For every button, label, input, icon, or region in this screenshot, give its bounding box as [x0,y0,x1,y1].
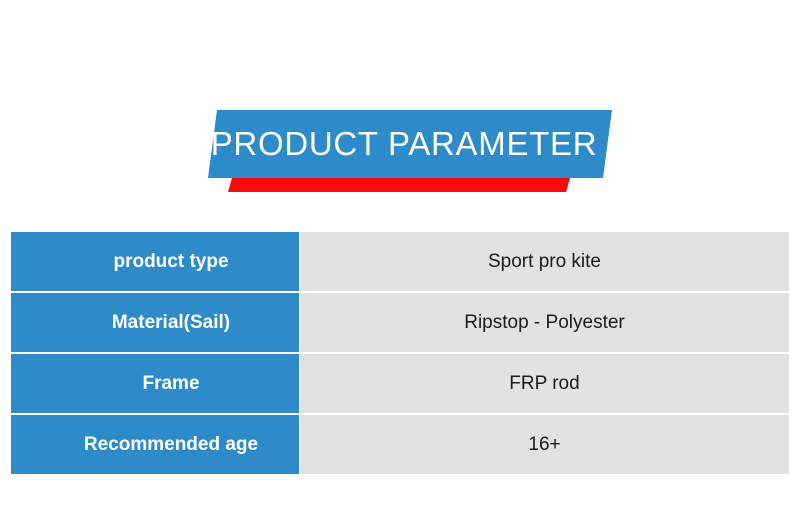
spec-value-product-type: Sport pro kite [300,232,789,291]
spec-label-recommended-age: Recommended age [11,415,299,474]
table-row: Material(Sail) Ripstop - Polyester [11,293,789,352]
table-row: product type Sport pro kite [11,232,789,291]
spec-value-frame: FRP rod [300,354,789,413]
spec-label-product-type: product type [11,232,299,291]
page-title: PRODUCT PARAMETER [0,110,800,178]
spec-value-material-sail: Ripstop - Polyester [300,293,789,352]
banner: PRODUCT PARAMETER [0,0,800,200]
product-parameter-table: product type Sport pro kite Material(Sai… [11,232,789,474]
spec-label-material-sail: Material(Sail) [11,293,299,352]
spec-value-recommended-age: 16+ [300,415,789,474]
spec-label-frame: Frame [11,354,299,413]
table-row: Frame FRP rod [11,354,789,413]
table-row: Recommended age 16+ [11,415,789,474]
banner-red-accent-bar [228,178,570,192]
